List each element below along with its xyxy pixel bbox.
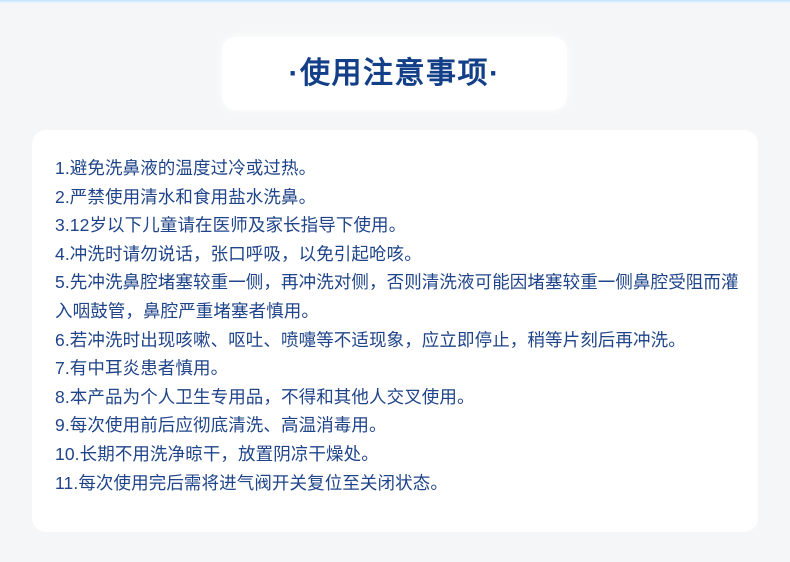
- list-item: 10.长期不用洗净晾干，放置阴凉干燥处。: [55, 440, 748, 469]
- header-card: ·使用注意事项·: [222, 37, 567, 110]
- list-item: 6.若冲洗时出现咳嗽、呕吐、喷嚏等不适现象，应立即停止，稍等片刻后再冲洗。: [55, 326, 748, 355]
- list-item: 2.严禁使用清水和食用盐水洗鼻。: [55, 183, 748, 212]
- list-item: 3.12岁以下儿童请在医师及家长指导下使用。: [55, 211, 748, 240]
- list-item: 5.先冲洗鼻腔堵塞较重一侧，再冲洗对侧，否则清洗液可能因堵塞较重一侧鼻腔受阻而灌…: [55, 268, 755, 325]
- list-item: 4.冲洗时请勿说话，张口呼吸，以免引起呛咳。: [55, 240, 748, 269]
- list-item: 9.每次使用前后应彻底清洗、高温消毒用。: [55, 411, 748, 440]
- notes-card: 1.避免洗鼻液的温度过冷或过热。 2.严禁使用清水和食用盐水洗鼻。 3.12岁以…: [32, 130, 758, 532]
- page-root: ·使用注意事项· 1.避免洗鼻液的温度过冷或过热。 2.严禁使用清水和食用盐水洗…: [0, 0, 790, 562]
- list-item: 8.本产品为个人卫生专用品，不得和其他人交叉使用。: [55, 383, 748, 412]
- list-item: 11.每次使用完后需将进气阀开关复位至关闭状态。: [55, 469, 748, 498]
- notes-list: 1.避免洗鼻液的温度过冷或过热。 2.严禁使用清水和食用盐水洗鼻。 3.12岁以…: [55, 154, 748, 497]
- page-title: ·使用注意事项·: [289, 59, 501, 89]
- list-item: 7.有中耳炎患者慎用。: [55, 354, 748, 383]
- list-item: 1.避免洗鼻液的温度过冷或过热。: [55, 154, 748, 183]
- top-accent-band: [0, 0, 790, 3]
